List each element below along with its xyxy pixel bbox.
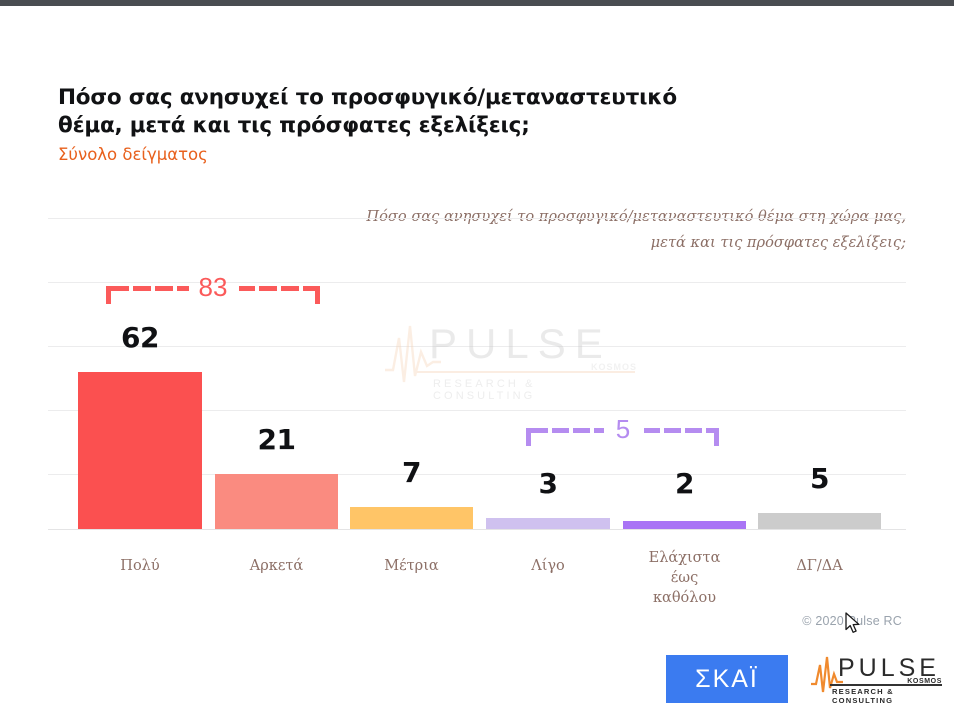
bracket-dash	[664, 428, 681, 433]
bracket-dash	[531, 428, 548, 433]
title-block: Πόσο σας ανησυχεί το προσφυγικό/μεταναστ…	[58, 84, 798, 166]
x-label-poly: Πολύ	[78, 556, 202, 576]
bracket-dash	[281, 286, 299, 291]
skai-logo-text: ΣΚΑΪ	[695, 665, 759, 694]
page-title: Πόσο σας ανησυχεί το προσφυγικό/μεταναστ…	[58, 84, 798, 140]
bracket-dash	[685, 428, 702, 433]
bar-value-label: 7	[350, 456, 473, 489]
mouse-cursor-icon	[845, 612, 863, 636]
pulse-logo-tagline: RESEARCH & CONSULTING	[832, 687, 942, 705]
window-top-bar	[0, 0, 954, 6]
bar-value-label: 2	[623, 467, 746, 500]
x-label-ligo: Λίγο	[486, 556, 610, 576]
bar-poly[interactable]	[78, 372, 202, 529]
bracket-dash	[111, 286, 129, 291]
bracket-dash	[239, 286, 255, 291]
bar-value-label: 3	[486, 467, 610, 500]
bar-elaxista[interactable]	[623, 521, 746, 529]
bar-arketa[interactable]	[215, 474, 338, 529]
bar-series: 62 21 7 3 2 5	[48, 196, 906, 542]
bracket-dash	[133, 286, 151, 291]
bracket-dash	[259, 286, 277, 291]
bracket-dash	[573, 428, 590, 433]
bar-value-label: 62	[78, 321, 202, 354]
bracket-dash	[552, 428, 569, 433]
chart-container: Πόσο σας ανησυχεί το προσφυγικό/μεταναστ…	[48, 196, 906, 542]
pulse-logo-kosmos: KOSMOS	[907, 678, 942, 685]
bracket-cap-right	[315, 286, 320, 304]
bar-metria[interactable]	[350, 507, 473, 529]
x-label-dgda: ΔΓ/ΔΑ	[758, 556, 881, 576]
bar-dgda[interactable]	[758, 513, 881, 529]
bar-value-label: 5	[758, 462, 881, 495]
bracket-dash	[155, 286, 173, 291]
slide-root: Πόσο σας ανησυχεί το προσφυγικό/μεταναστ…	[0, 0, 954, 714]
bar-ligo[interactable]	[486, 518, 610, 529]
page-subtitle: Σύνολο δείγματος	[58, 144, 798, 166]
x-label-arketa: Αρκετά	[215, 556, 338, 576]
x-label-elaxista: Ελάχιστα έως καθόλου	[623, 548, 746, 608]
pulse-logo: PULSE KOSMOS RESEARCH & CONSULTING	[810, 652, 942, 704]
bracket-cap-right	[714, 428, 719, 446]
x-label-metria: Μέτρια	[350, 556, 473, 576]
bracket-label: 5	[600, 414, 646, 445]
skai-logo: ΣΚΑΪ	[666, 655, 788, 703]
bracket-label: 83	[185, 272, 241, 303]
bracket-dash	[644, 428, 660, 433]
bar-value-label: 21	[215, 423, 338, 456]
